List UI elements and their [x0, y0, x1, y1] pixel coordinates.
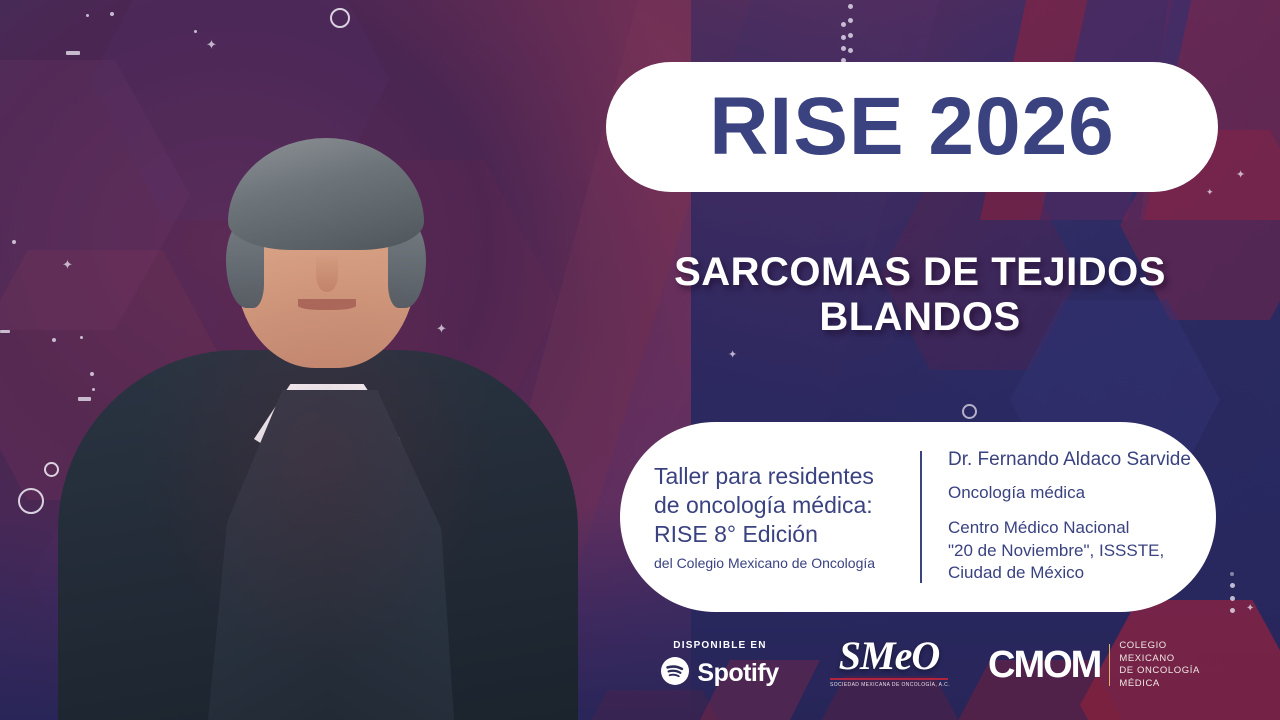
dot-decor: [52, 338, 56, 342]
speaker-institution: Centro Médico Nacional "20 de Noviembre"…: [948, 517, 1216, 584]
portrait-light-overlay: [58, 20, 578, 720]
event-title-pill: RISE 2026: [606, 62, 1218, 192]
info-card: Taller para residentes de oncología médi…: [620, 422, 1216, 612]
speaker-specialty: Oncología médica: [948, 483, 1216, 503]
dot-column-decor: [848, 48, 853, 53]
dot-column-decor: [841, 35, 846, 40]
cmom-line-4: MÉDICA: [1119, 678, 1200, 691]
institution-line-2: "20 de Noviembre", ISSSTE,: [948, 540, 1216, 562]
spotify-wordmark: Spotify: [697, 659, 778, 688]
program-line-2: de oncología médica:: [654, 491, 914, 520]
cmom-line-2: MEXICANO: [1119, 653, 1200, 666]
dot-column-decor: [848, 18, 853, 23]
cmom-subtitle: COLEGIO MEXICANO DE ONCOLOGÍA MÉDICA: [1119, 640, 1200, 690]
program-organizer: del Colegio Mexicano de Oncología: [654, 554, 914, 572]
cmom-line-3: DE ONCOLOGÍA: [1119, 665, 1200, 678]
dot-decor: [12, 240, 16, 244]
smeo-logo: SMeO SOCIEDAD MEXICANA DE ONCOLOGÍA, A.C…: [830, 636, 948, 688]
sparkle-decor: ✦: [1206, 188, 1214, 197]
program-block: Taller para residentes de oncología médi…: [620, 462, 920, 573]
dash-decor: [0, 330, 10, 333]
spotify-icon: [661, 657, 689, 690]
smeo-subtitle: SOCIEDAD MEXICANA DE ONCOLOGÍA, A.C.: [830, 682, 948, 688]
speaker-name: Dr. Fernando Aldaco Sarvide: [948, 449, 1216, 471]
sparkle-decor: ✦: [1246, 604, 1254, 614]
dot-column-decor: [841, 46, 846, 51]
promo-poster: ✦ ✦ ✦ ✦ ✦ ✦ ✦ ✦: [0, 0, 1280, 720]
smeo-rule: [830, 678, 948, 680]
program-line-3: RISE 8° Edición: [654, 520, 914, 549]
topic-heading: SARCOMAS DE TEJIDOS BLANDOS: [620, 250, 1220, 340]
cmom-wordmark: CMOM: [988, 644, 1100, 687]
cmom-logo: CMOM COLEGIO MEXICANO DE ONCOLOGÍA MÉDIC…: [988, 640, 1200, 690]
dot-column-decor: [848, 4, 853, 9]
speaker-portrait: [58, 20, 578, 720]
program-line-1: Taller para residentes: [654, 462, 914, 491]
sparkle-decor: ✦: [728, 350, 737, 361]
cmom-divider: [1109, 644, 1110, 686]
dot-column-decor: [848, 33, 853, 38]
cmom-line-1: COLEGIO: [1119, 640, 1200, 653]
sparkle-decor: ✦: [1236, 170, 1245, 181]
dot-column-decor: [1230, 596, 1235, 601]
spotify-logo[interactable]: Spotify: [645, 657, 795, 690]
circle-decor: [962, 404, 977, 419]
dot-decor: [86, 14, 89, 17]
topic-line-2: BLANDOS: [620, 295, 1220, 340]
dot-decor: [110, 12, 114, 16]
dot-column-decor: [1230, 572, 1234, 576]
circle-decor: [44, 462, 59, 477]
dot-column-decor: [1230, 608, 1235, 613]
topic-line-1: SARCOMAS DE TEJIDOS: [620, 250, 1220, 295]
spotify-label: DISPONIBLE EN: [645, 640, 795, 651]
dot-column-decor: [1230, 583, 1235, 588]
page-title: RISE 2026: [709, 80, 1115, 174]
circle-decor: [18, 488, 44, 514]
institution-line-3: Ciudad de México: [948, 562, 1216, 584]
speaker-block: Dr. Fernando Aldaco Sarvide Oncología mé…: [922, 449, 1216, 584]
dot-column-decor: [841, 22, 846, 27]
institution-line-1: Centro Médico Nacional: [948, 517, 1216, 539]
smeo-wordmark: SMeO: [830, 636, 948, 676]
spotify-availability[interactable]: DISPONIBLE EN Spotify: [645, 640, 795, 690]
